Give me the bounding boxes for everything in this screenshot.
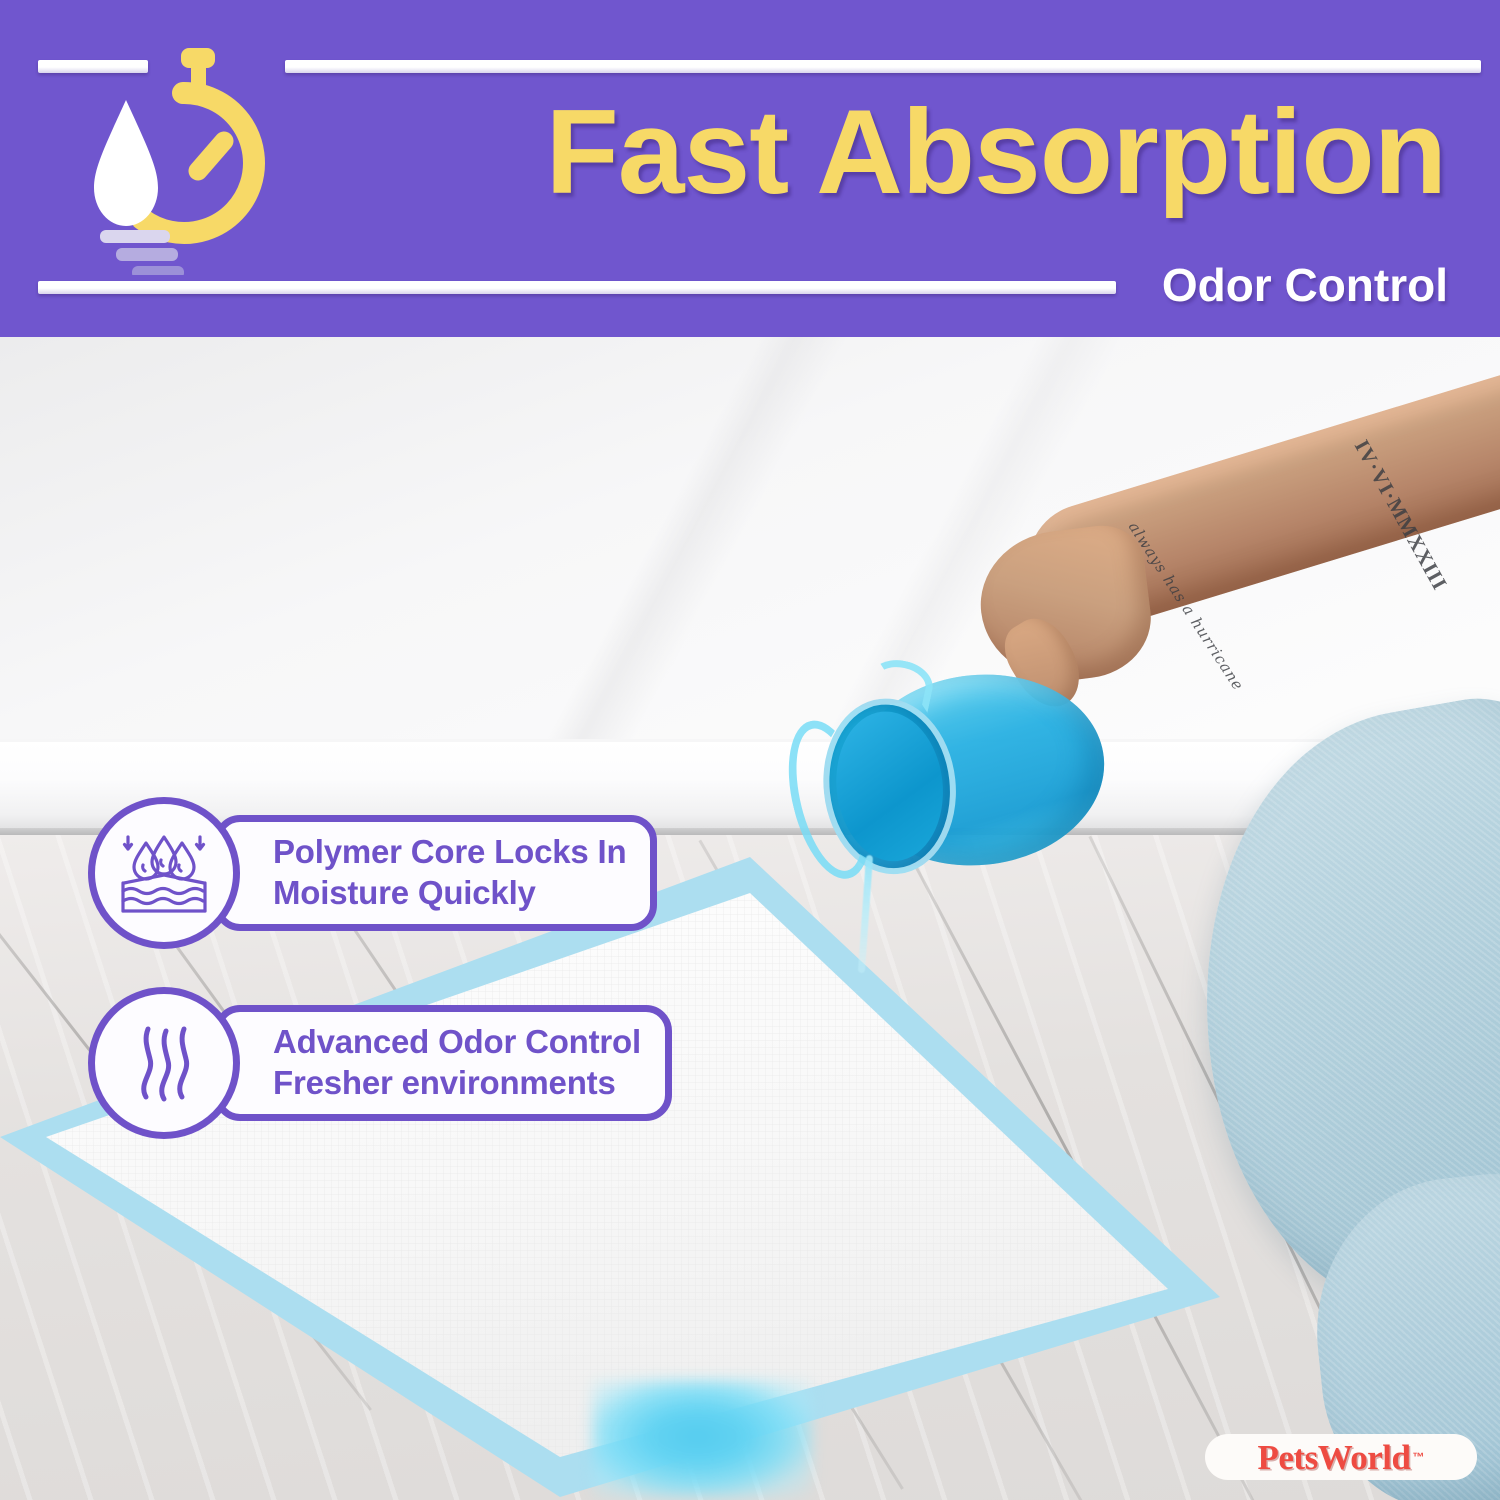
droplets-absorb-icon — [88, 797, 240, 949]
product-infographic: IV·VI·MMXXIII always has a hurricane — [0, 0, 1500, 1500]
feature-callout-absorption: Polymer Core Locks In Moisture Quickly — [88, 797, 657, 949]
absorbed-liquid-spot — [592, 1380, 812, 1498]
odor-waves-icon — [88, 987, 240, 1139]
divider-top-right — [285, 60, 1481, 73]
feature-label-box-absorption: Polymer Core Locks In Moisture Quickly — [214, 815, 657, 931]
trademark-symbol: ™ — [1412, 1450, 1424, 1464]
feature-label-absorption: Polymer Core Locks In Moisture Quickly — [273, 832, 626, 914]
banner-title: Fast Absorption — [0, 92, 1446, 212]
feature-label-box-odor: Advanced Odor Control Fresher environmen… — [214, 1005, 672, 1121]
banner-subtitle: Odor Control — [1162, 262, 1448, 308]
feature-label-odor: Advanced Odor Control Fresher environmen… — [273, 1022, 641, 1104]
brand-name: PetsWorld — [1258, 1440, 1411, 1475]
product-photo: IV·VI·MMXXIII always has a hurricane — [0, 337, 1500, 1500]
header-banner: Fast Absorption Odor Control — [0, 0, 1500, 337]
feature-callout-odor: Advanced Odor Control Fresher environmen… — [88, 987, 672, 1139]
glass-beaker — [783, 636, 1117, 917]
divider-bottom — [38, 281, 1116, 294]
brand-logo: PetsWorld™ — [1205, 1434, 1477, 1480]
